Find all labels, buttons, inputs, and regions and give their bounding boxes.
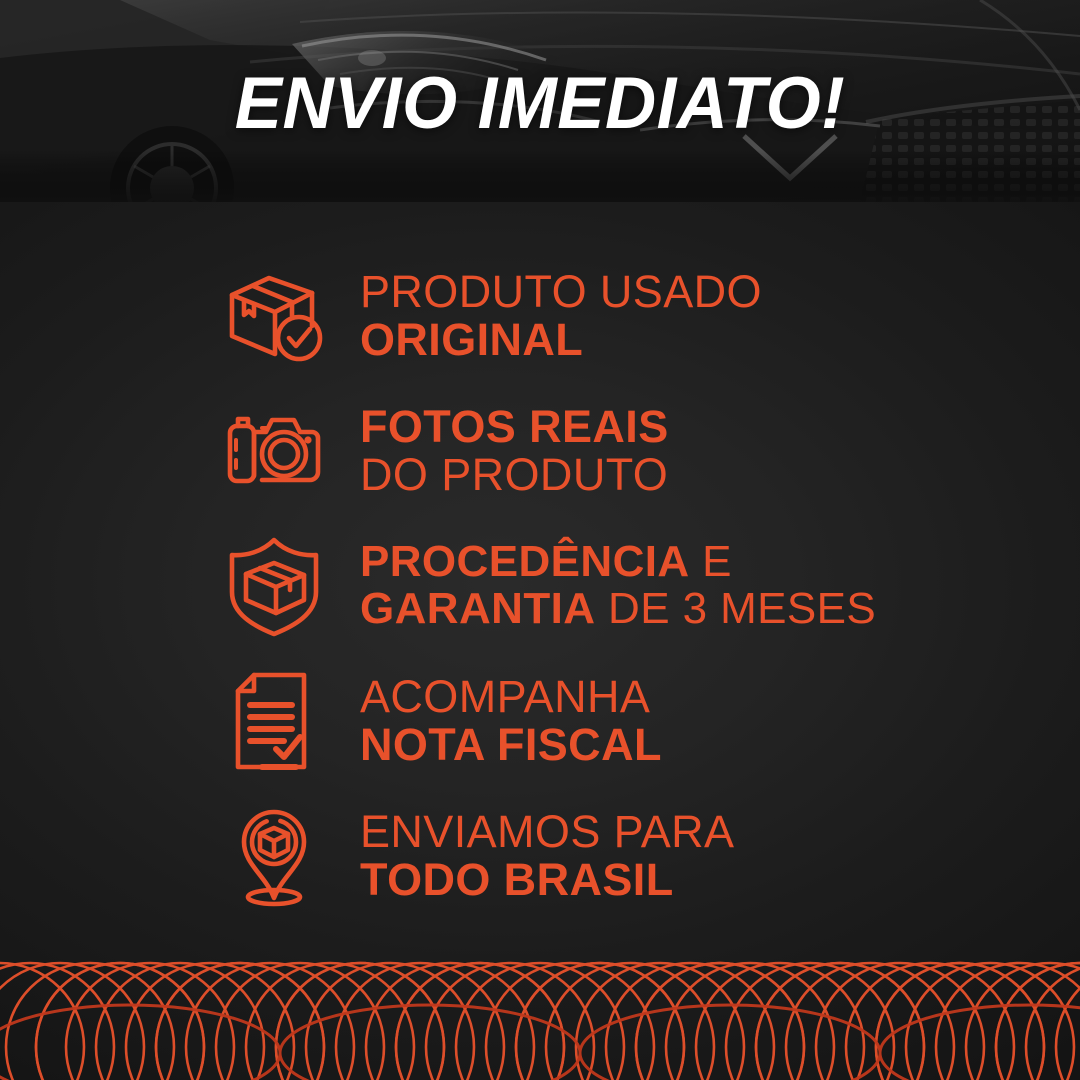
- feature-line-1-thin: E: [690, 537, 732, 586]
- feature-text: ACOMPANHA NOTA FISCAL: [360, 673, 662, 768]
- feature-text: PROCEDÊNCIA E GARANTIA DE 3 MESES: [360, 539, 876, 632]
- shield-box-icon: [218, 534, 330, 638]
- camera-icon: [218, 406, 330, 496]
- feature-line-1: PRODUTO USADO: [360, 268, 762, 316]
- feature-line-1: PROCEDÊNCIA E: [360, 539, 876, 586]
- geometric-circle-border: [0, 935, 1080, 1080]
- document-check-icon: [218, 669, 330, 773]
- feature-line-1: ACOMPANHA: [360, 673, 662, 721]
- feature-row: FOTOS REAIS DO PRODUTO: [218, 383, 1018, 518]
- feature-line-2: TODO BRASIL: [360, 856, 734, 904]
- feature-line-1: ENVIAMOS PARA: [360, 808, 734, 856]
- feature-row: PRODUTO USADO ORIGINAL: [218, 248, 1018, 383]
- feature-line-2: ORIGINAL: [360, 316, 762, 364]
- feature-line-2-bold: GARANTIA: [360, 584, 595, 633]
- feature-row: ENVIAMOS PARA TODO BRASIL: [218, 788, 1018, 923]
- feature-row: ACOMPANHA NOTA FISCAL: [218, 653, 1018, 788]
- box-check-icon: [218, 268, 330, 364]
- feature-text: PRODUTO USADO ORIGINAL: [360, 268, 762, 363]
- footer-pattern: [0, 935, 1080, 1080]
- feature-line-2: NOTA FISCAL: [360, 721, 662, 769]
- feature-line-2: GARANTIA DE 3 MESES: [360, 586, 876, 633]
- promotional-banner-page: ENVIO IMEDIATO! PRODUTO USADO ORIGIN: [0, 0, 1080, 1080]
- header-banner: ENVIO IMEDIATO!: [0, 0, 1080, 202]
- feature-list: PRODUTO USADO ORIGINAL: [218, 248, 1018, 923]
- feature-line-2: DO PRODUTO: [360, 451, 669, 499]
- feature-text: ENVIAMOS PARA TODO BRASIL: [360, 808, 734, 903]
- feature-line-1: FOTOS REAIS: [360, 403, 669, 451]
- location-pin-box-icon: [218, 802, 330, 910]
- feature-text: FOTOS REAIS DO PRODUTO: [360, 403, 669, 498]
- banner-title: ENVIO IMEDIATO!: [16, 62, 1064, 145]
- feature-line-2-thin: DE 3 MESES: [595, 584, 876, 633]
- feature-row: PROCEDÊNCIA E GARANTIA DE 3 MESES: [218, 518, 1018, 653]
- feature-line-1-bold: PROCEDÊNCIA: [360, 537, 690, 586]
